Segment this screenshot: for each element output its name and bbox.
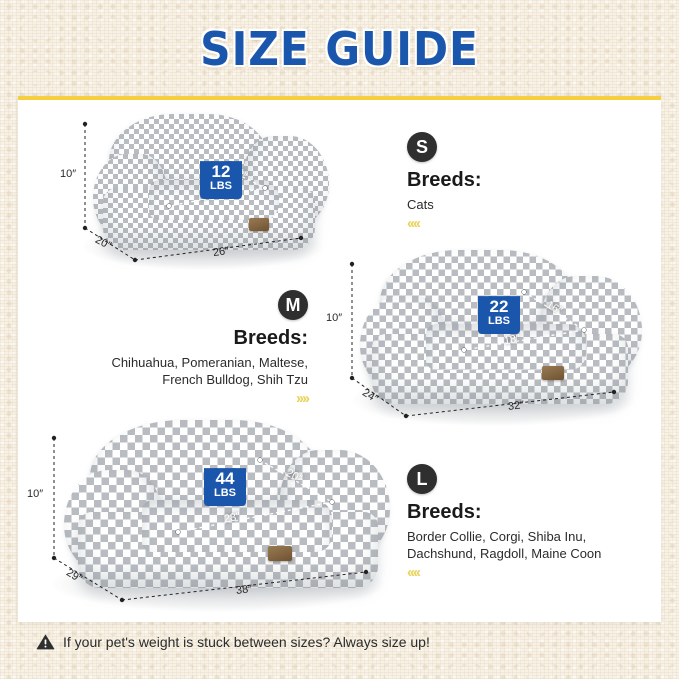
weight-badge-large: 44 LBS	[204, 462, 246, 506]
arrow-left-icon-s: ‹‹‹‹	[407, 216, 647, 231]
dim-width-small: 26″	[212, 245, 230, 259]
bed-art-medium	[338, 248, 653, 430]
weight-badge-medium: 22 LBS	[478, 290, 520, 334]
weight-value: 12	[200, 163, 242, 180]
breeds-line: French Bulldog, Shih Tzu	[28, 371, 308, 388]
bed-illustration-small: 10″ 20″ 26″ 12″ 13″ 12 LBS	[73, 110, 338, 275]
footer-note-text: If your pet's weight is stuck between si…	[63, 634, 430, 650]
breeds-line: Border Collie, Corgi, Shiba Inu,	[407, 528, 657, 545]
bed-cushion	[142, 500, 332, 552]
breeds-label-m: Breeds:	[28, 327, 308, 350]
dim-width-medium: 32″	[507, 399, 524, 413]
breeds-label-l: Breeds:	[407, 501, 657, 524]
breeds-line: Cats	[407, 196, 647, 213]
size-info-medium: M Breeds: Chihuahua, Pomeranian, Maltese…	[28, 290, 308, 406]
dim-height-medium: 10″	[326, 312, 342, 324]
brand-tag	[268, 546, 292, 561]
footer-note: If your pet's weight is stuck between si…	[36, 633, 430, 650]
size-badge-s: S	[407, 132, 437, 162]
weight-unit: LBS	[200, 181, 242, 192]
weight-unit: LBS	[478, 316, 520, 327]
size-badge-l: L	[407, 464, 437, 494]
breeds-line: Chihuahua, Pomeranian, Maltese,	[28, 354, 308, 371]
bed-illustration-medium: 10″ 24″ 32″ 16″ 18″ 22 LBS	[338, 248, 653, 430]
size-info-large: L Breeds: Border Collie, Corgi, Shiba In…	[407, 464, 657, 580]
size-badge-m: M	[278, 290, 308, 320]
bed-illustration-large: 10″ 29″ 38″ 20″ 23″ 44 LBS	[36, 418, 406, 614]
dim-height-large: 10″	[27, 488, 43, 500]
arrow-right-icon-m: ››››	[28, 391, 308, 406]
weight-badge-small: 12 LBS	[200, 155, 242, 199]
weight-value: 44	[204, 470, 246, 487]
arrow-left-icon-l: ‹‹‹‹	[407, 565, 657, 580]
bed-art-large	[36, 418, 406, 614]
size-guide-card: 10″ 20″ 26″ 12″ 13″ 12 LBS S Breeds: Cat…	[18, 96, 661, 622]
weight-value: 22	[478, 298, 520, 315]
brand-tag	[542, 366, 564, 380]
weight-unit: LBS	[204, 488, 246, 499]
dim-height-small: 10″	[60, 168, 76, 180]
size-info-small: S Breeds: Cats ‹‹‹‹	[407, 132, 647, 231]
breeds-label-s: Breeds:	[407, 169, 647, 192]
breeds-line: Dachshund, Ragdoll, Maine Coon	[407, 545, 657, 562]
brand-tag	[249, 218, 269, 231]
page-title: SIZE GUIDE	[27, 26, 652, 72]
dim-width-large: 38″	[235, 583, 252, 597]
warning-triangle-icon	[36, 633, 55, 650]
